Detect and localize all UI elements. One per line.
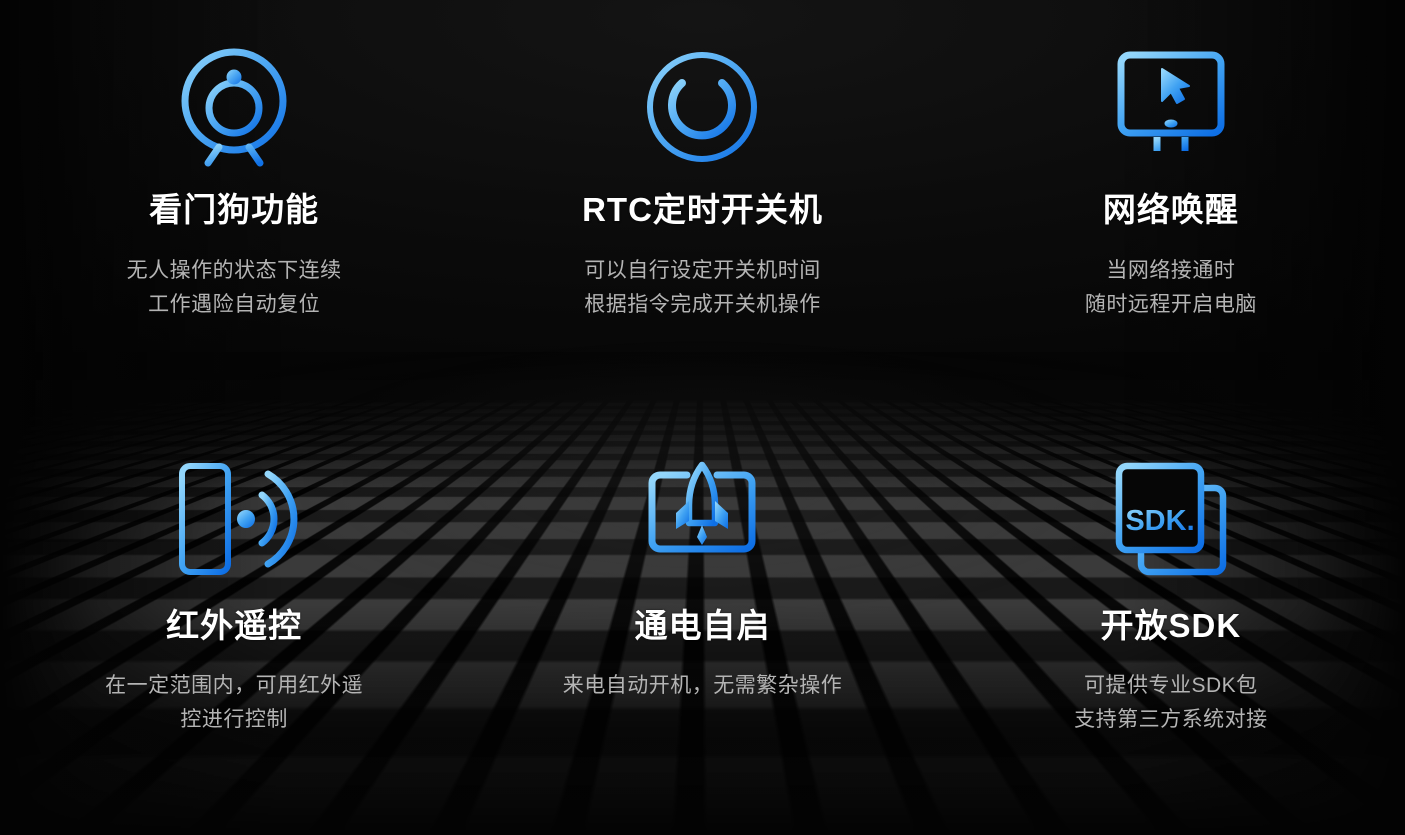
power-button-icon [644, 44, 760, 170]
description-line: 无人操作的状态下连续 [127, 254, 342, 288]
description-line: 随时远程开启电脑 [1085, 288, 1257, 322]
description-line: 在一定范围内，可用红外遥 [105, 669, 363, 703]
description-line: 当网络接通时 [1085, 254, 1257, 288]
sdk-icon-label: SDK. [1125, 505, 1194, 537]
description-line: 根据指令完成开关机操作 [584, 288, 821, 322]
monitor-rocket-icon [643, 456, 761, 582]
feature-card-ir-remote: 红外遥控 在一定范围内，可用红外遥 控进行控制 [0, 418, 468, 835]
feature-card-auto-power-on: 通电自启 来电自动开机，无需繁杂操作 [468, 418, 936, 835]
description-line: 可提供专业SDK包 [1074, 669, 1268, 703]
description-line: 支持第三方系统对接 [1074, 703, 1268, 737]
description-line: 来电自动开机，无需繁杂操作 [563, 669, 843, 703]
feature-title: 通电自启 [634, 608, 770, 644]
feature-title: 红外遥控 [166, 608, 302, 644]
monitor-play-icon [1117, 44, 1225, 170]
feature-description: 来电自动开机，无需繁杂操作 [563, 669, 843, 703]
feature-description: 当网络接通时 随时远程开启电脑 [1085, 254, 1257, 322]
feature-card-open-sdk: SDK. 开放SDK 可提供专业SDK包 支持第三方系统对接 [937, 418, 1405, 835]
feature-title: 看门狗功能 [149, 192, 319, 228]
feature-description: 可以自行设定开关机时间 根据指令完成开关机操作 [584, 254, 821, 322]
remote-control-signal-icon [178, 456, 290, 582]
feature-showcase-page: 看门狗功能 无人操作的状态下连续 工作遇险自动复位 RTC定时开关机 可以自行设… [0, 0, 1405, 835]
description-line: 工作遇险自动复位 [127, 288, 342, 322]
webcam-icon [175, 44, 293, 170]
feature-description: 可提供专业SDK包 支持第三方系统对接 [1074, 669, 1268, 737]
feature-card-network-wake: 网络唤醒 当网络接通时 随时远程开启电脑 [937, 0, 1405, 418]
description-line: 可以自行设定开关机时间 [584, 254, 821, 288]
feature-title: 网络唤醒 [1103, 192, 1239, 228]
feature-title: RTC定时开关机 [582, 192, 823, 228]
feature-description: 在一定范围内，可用红外遥 控进行控制 [105, 669, 363, 737]
feature-card-rtc-timer: RTC定时开关机 可以自行设定开关机时间 根据指令完成开关机操作 [468, 0, 936, 418]
sdk-windows-icon: SDK. [1115, 456, 1227, 582]
feature-description: 无人操作的状态下连续 工作遇险自动复位 [127, 254, 342, 322]
description-line: 控进行控制 [105, 703, 363, 737]
feature-card-watchdog: 看门狗功能 无人操作的状态下连续 工作遇险自动复位 [0, 0, 468, 418]
feature-title: 开放SDK [1100, 608, 1241, 644]
features-grid: 看门狗功能 无人操作的状态下连续 工作遇险自动复位 RTC定时开关机 可以自行设… [0, 0, 1405, 835]
